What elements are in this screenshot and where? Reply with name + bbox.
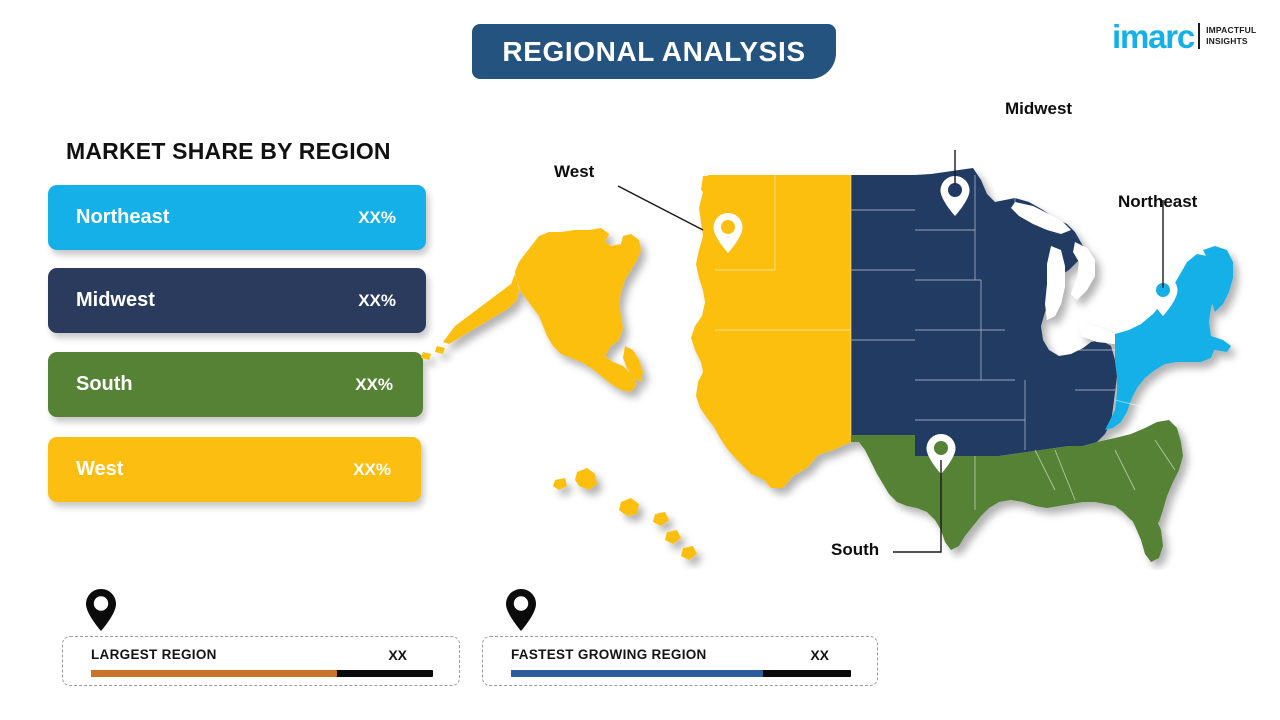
map-lake-huron-erie: [1071, 242, 1095, 300]
region-bar-midwest[interactable]: Midwest XX%: [48, 268, 426, 333]
region-bar-value: XX%: [358, 291, 396, 311]
map-region-hawaii-3: [619, 498, 639, 516]
map-region-hawaii: [575, 468, 597, 490]
region-bar-value: XX%: [353, 460, 391, 480]
region-bar-value: XX%: [355, 375, 393, 395]
fastest-growing-region-box: FASTEST GROWING REGION XX: [482, 636, 878, 686]
map-region-hawaii-5: [665, 530, 681, 544]
fastest-growing-region-label: FASTEST GROWING REGION: [511, 647, 707, 662]
largest-region-value: XX: [388, 647, 407, 663]
region-bar-label: Midwest: [76, 289, 155, 312]
map-region-hawaii-4: [653, 512, 669, 526]
imarc-logo: imarc IMPACTFUL INSIGHTS: [1112, 14, 1268, 58]
region-bar-northeast[interactable]: Northeast XX%: [48, 185, 426, 250]
map-region-alaska: [515, 228, 641, 392]
callout-label-midwest: Midwest: [1005, 99, 1072, 119]
region-bar-label: South: [76, 373, 133, 396]
region-bar-label: West: [76, 458, 123, 481]
slide-canvas: REGIONAL ANALYSIS imarc IMPACTFUL INSIGH…: [0, 0, 1280, 720]
map-region-alaska-islands: [421, 346, 445, 360]
largest-region-progress-track: [91, 670, 433, 677]
page-title: REGIONAL ANALYSIS: [502, 36, 805, 68]
logo-tagline: IMPACTFUL INSIGHTS: [1206, 25, 1256, 47]
logo-tagline-line1: IMPACTFUL: [1206, 25, 1256, 36]
fastest-growing-region-progress-track: [511, 670, 851, 677]
map-region-hawaii-2: [553, 478, 567, 490]
region-bar-west[interactable]: West XX%: [48, 437, 421, 502]
map-region-alaska-peninsula: [443, 274, 519, 344]
map-pin-icon: [84, 588, 118, 632]
region-bar-south[interactable]: South XX%: [48, 352, 423, 417]
region-bar-value: XX%: [358, 208, 396, 228]
map-region-midwest: [851, 168, 1117, 456]
fastest-growing-region-value: XX: [810, 647, 829, 663]
map-pin-icon: [504, 588, 538, 632]
map-region-hawaii-6: [681, 546, 697, 560]
page-title-banner: REGIONAL ANALYSIS: [472, 24, 836, 79]
callout-label-south: South: [831, 540, 879, 560]
us-regional-map: West Midwest Northeast South: [415, 150, 1280, 570]
largest-region-label: LARGEST REGION: [91, 647, 217, 662]
largest-region-progress-fill: [91, 670, 337, 677]
fastest-growing-region-progress-fill: [511, 670, 763, 677]
largest-region-box: LARGEST REGION XX: [62, 636, 460, 686]
market-share-heading: MARKET SHARE BY REGION: [66, 138, 391, 165]
callout-label-northeast: Northeast: [1118, 192, 1197, 212]
logo-wordmark: imarc: [1112, 20, 1194, 53]
logo-divider: [1198, 23, 1200, 49]
logo-tagline-line2: INSIGHTS: [1206, 36, 1256, 47]
leader-west: [618, 186, 703, 230]
callout-label-west: West: [554, 162, 594, 182]
map-lake-erie: [1079, 322, 1115, 344]
region-bar-label: Northeast: [76, 206, 169, 229]
